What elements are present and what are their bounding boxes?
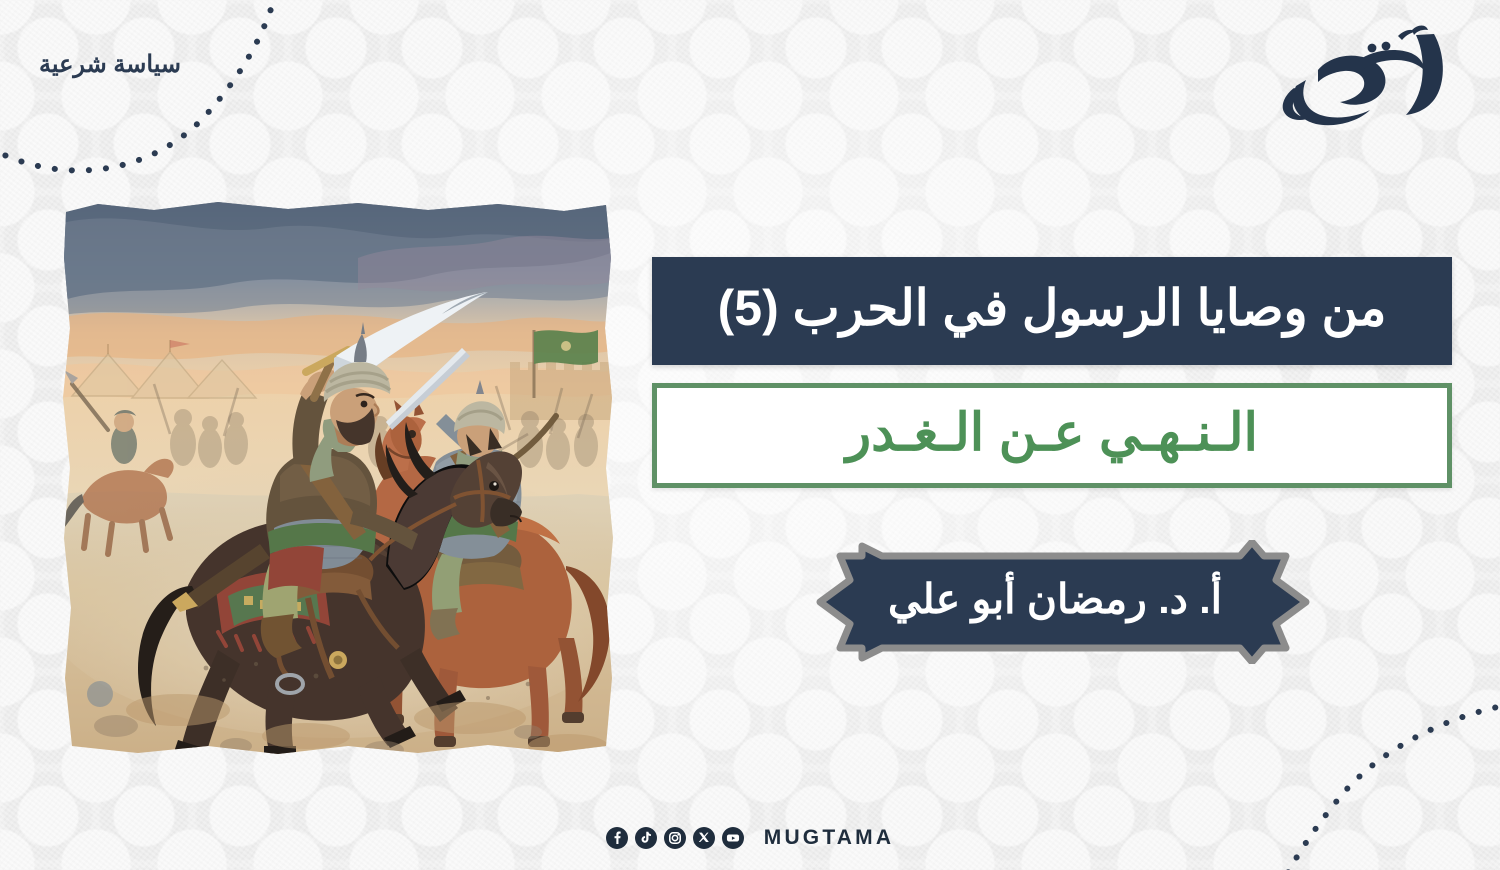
article-title: من وصايا الرسول في الحرب (5): [718, 283, 1387, 339]
youtube-icon[interactable]: [722, 827, 744, 849]
author-name: أ. د. رمضان أبو علي: [800, 540, 1310, 664]
article-subtitle-box: الـنـهـي عـن الـغـدر: [652, 383, 1452, 488]
mugtama-calligraphy-logo[interactable]: [1266, 18, 1456, 128]
x-twitter-icon[interactable]: [693, 827, 715, 849]
kicker-label-wrapper: سياسة شرعية: [0, 50, 220, 79]
article-subtitle: الـنـهـي عـن الـغـدر: [846, 407, 1258, 465]
instagram-icon[interactable]: [664, 827, 686, 849]
kicker-label: سياسة شرعية: [0, 50, 220, 79]
poster-canvas: سياسة شرعية: [0, 0, 1500, 870]
facebook-icon[interactable]: [606, 827, 628, 849]
battle-illustration-art: [58, 198, 618, 760]
logo-glyph-icon: [1266, 18, 1456, 128]
tiktok-icon[interactable]: [635, 827, 657, 849]
social-footer: MUGTAMA: [0, 826, 1500, 850]
article-title-banner: من وصايا الرسول في الحرب (5): [652, 257, 1452, 365]
footer-brand-name: MUGTAMA: [764, 826, 895, 850]
battle-illustration: [58, 198, 618, 760]
author-ribbon: أ. د. رمضان أبو علي: [800, 540, 1310, 664]
